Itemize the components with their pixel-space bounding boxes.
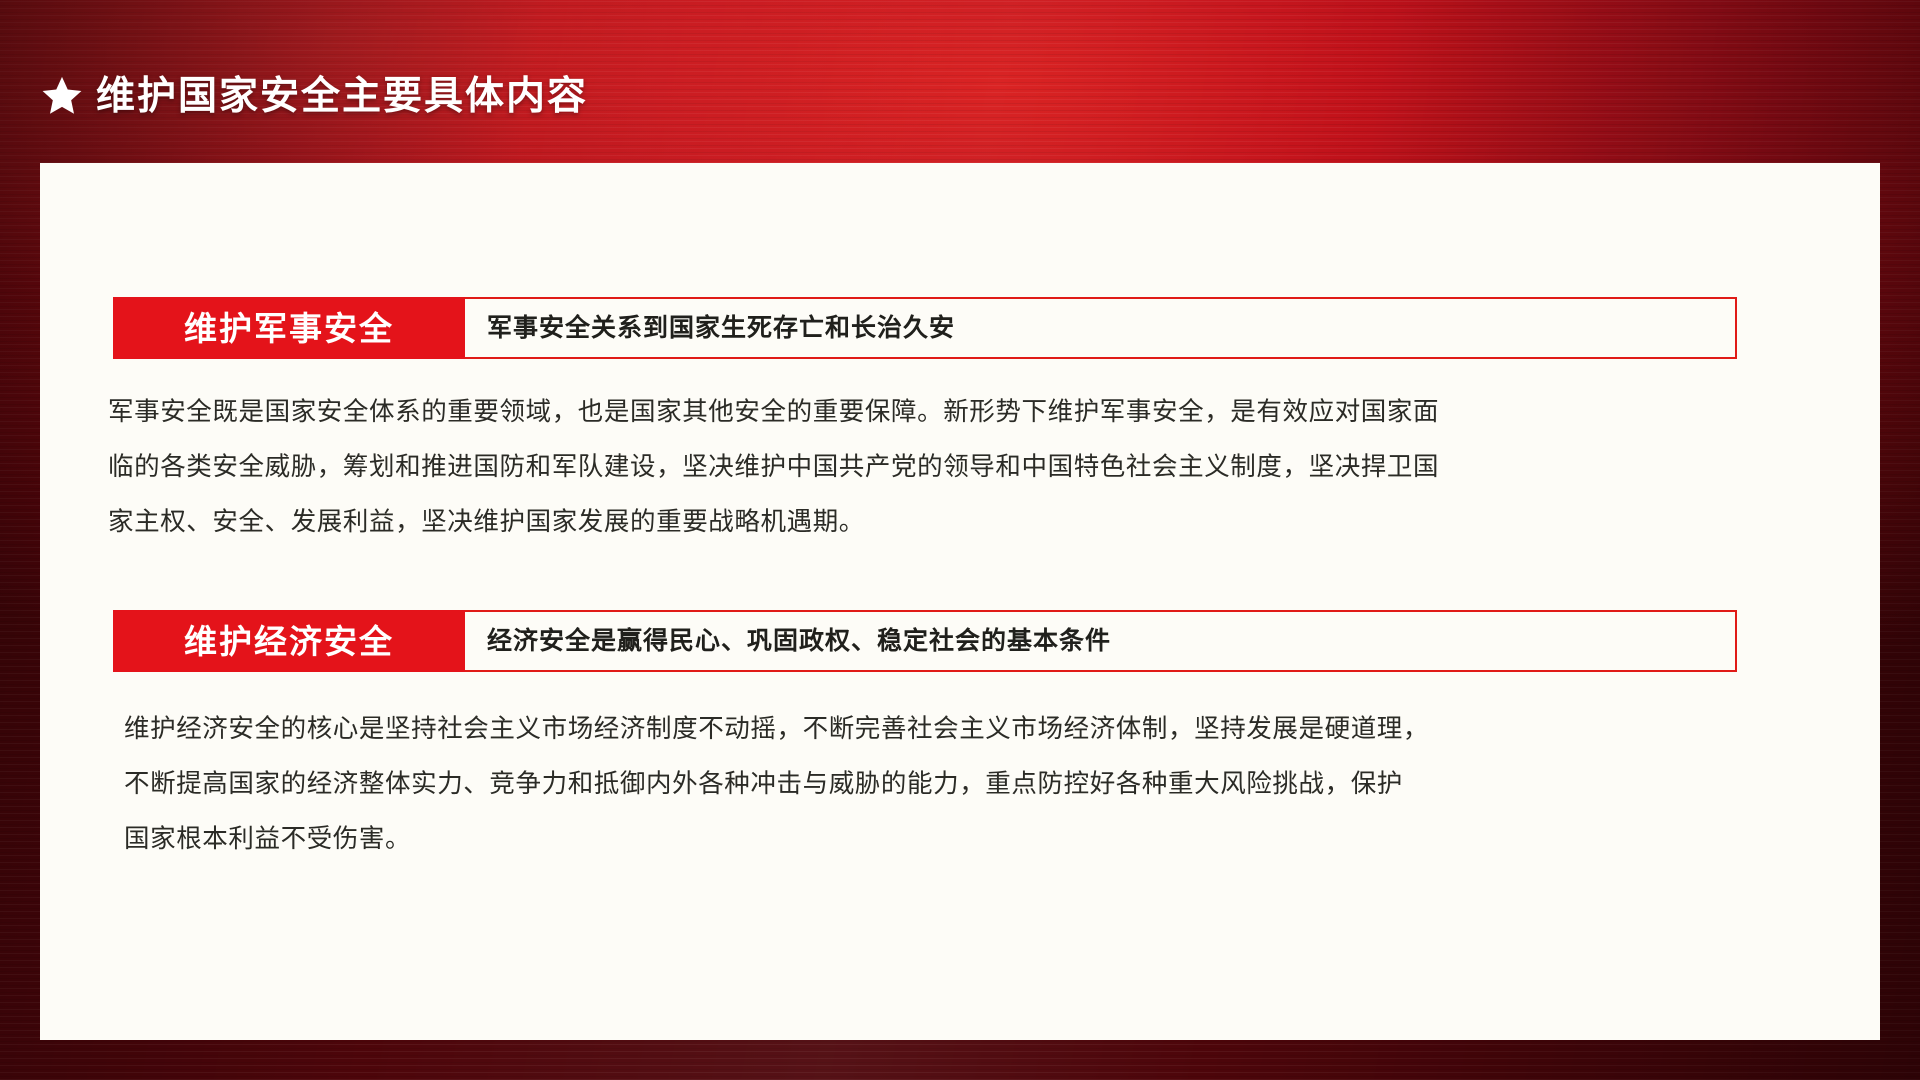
content-card: 维护军事安全 军事安全关系到国家生死存亡和长治久安 军事安全既是国家安全体系的重…: [40, 163, 1880, 1040]
section-header: 维护经济安全 经济安全是赢得民心、巩固政权、稳定社会的基本条件: [113, 610, 1737, 672]
body-line: 军事安全既是国家安全体系的重要领域，也是国家其他安全的重要保障。新形势下维护军事…: [108, 385, 1764, 440]
section-tag-badge: 维护军事安全: [113, 297, 465, 359]
body-line: 国家根本利益不受伤害。: [124, 812, 1734, 867]
section-header: 维护军事安全 军事安全关系到国家生死存亡和长治久安: [113, 297, 1737, 359]
section-subtitle-container: 经济安全是赢得民心、巩固政权、稳定社会的基本条件: [465, 612, 1735, 670]
section-subtitle: 经济安全是赢得民心、巩固政权、稳定社会的基本条件: [487, 629, 1111, 654]
section-tag-label: 维护经济安全: [184, 625, 394, 658]
body-line: 家主权、安全、发展利益，坚决维护国家发展的重要战略机遇期。: [108, 495, 1764, 550]
slide-title-text: 维护国家安全主要具体内容: [96, 77, 588, 116]
section-body: 维护经济安全的核心是坚持社会主义市场经济制度不动摇，不断完善社会主义市场经济体制…: [124, 702, 1734, 867]
body-line: 临的各类安全威胁，筹划和推进国防和军队建设，坚决维护中国共产党的领导和中国特色社…: [108, 440, 1764, 495]
section-tag-badge: 维护经济安全: [113, 610, 465, 672]
section-tag-label: 维护军事安全: [184, 312, 394, 345]
section-subtitle: 军事安全关系到国家生死存亡和长治久安: [487, 316, 955, 341]
slide-root: 维护国家安全主要具体内容 维护军事安全 军事安全关系到国家生死存亡和长治久安 军…: [0, 0, 1920, 1080]
section-economic-security: 维护经济安全 经济安全是赢得民心、巩固政权、稳定社会的基本条件 维护经济安全的核…: [40, 610, 1880, 867]
body-line: 维护经济安全的核心是坚持社会主义市场经济制度不动摇，不断完善社会主义市场经济体制…: [124, 702, 1734, 757]
star-icon: [40, 74, 84, 118]
section-military-security: 维护军事安全 军事安全关系到国家生死存亡和长治久安 军事安全既是国家安全体系的重…: [40, 297, 1880, 550]
page-title: 维护国家安全主要具体内容: [40, 74, 588, 118]
section-body: 军事安全既是国家安全体系的重要领域，也是国家其他安全的重要保障。新形势下维护军事…: [108, 385, 1764, 550]
body-line: 不断提高国家的经济整体实力、竞争力和抵御内外各种冲击与威胁的能力，重点防控好各种…: [124, 757, 1734, 812]
section-subtitle-container: 军事安全关系到国家生死存亡和长治久安: [465, 299, 1735, 357]
